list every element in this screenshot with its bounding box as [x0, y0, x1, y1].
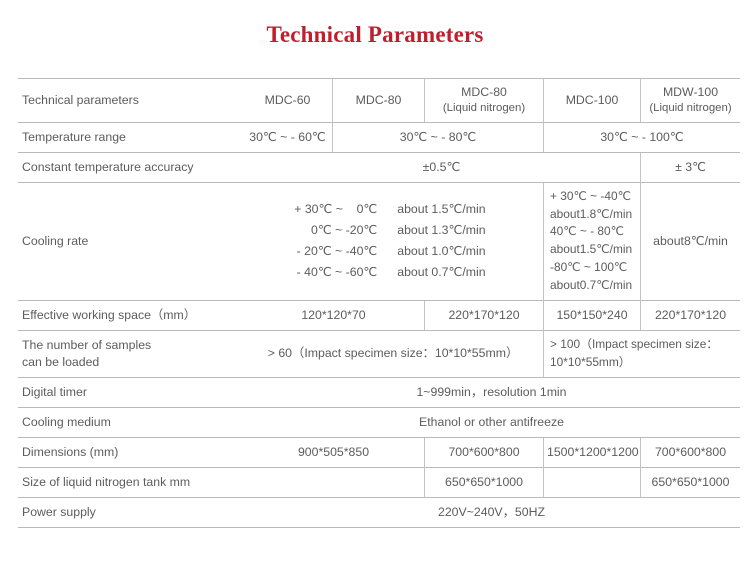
cell-cooling-rate-mdw-100: about8℃/min: [640, 183, 740, 301]
cooling-rate-range-3: - 20℃ ~ -40℃: [246, 241, 391, 262]
table-header-row: Technical parameters MDC-60 MDC-80 MDC-8…: [18, 78, 740, 123]
cell-ln-tank-mdw-100: 650*650*1000: [640, 468, 740, 498]
row-label-ln-tank-size: Size of liquid nitrogen tank mm: [18, 468, 243, 498]
cell-samples-left: > 60（Impact specimen size：10*10*55mm）: [243, 331, 543, 378]
row-label-number-of-samples: The number of samples can be loaded: [18, 331, 243, 378]
cooling-rate-mdc-100-lines: + 30℃ ~ -40℃ about1.8℃/min 40℃ ~ - 80℃ a…: [547, 188, 637, 295]
table-row-number-of-samples: The number of samples can be loaded > 60…: [18, 331, 740, 378]
cell-temperature-range-mdc-60: 30℃ ~ - 60℃: [243, 123, 332, 153]
cooling-rate-line: - 20℃ ~ -40℃ about 1.0℃/min: [246, 241, 540, 262]
row-label-temperature-range: Temperature range: [18, 123, 243, 153]
table-row-digital-timer: Digital timer 1~999min，resolution 1min: [18, 378, 740, 408]
technical-parameters-table: Technical parameters MDC-60 MDC-80 MDC-8…: [18, 78, 740, 528]
row-label-constant-temperature-accuracy: Constant temperature accuracy: [18, 153, 243, 183]
cell-cooling-medium-value: Ethanol or other antifreeze: [243, 408, 740, 438]
table-row-constant-temperature-accuracy: Constant temperature accuracy ±0.5℃ ± 3℃: [18, 153, 740, 183]
cooling-rate-range-4: - 40℃ ~ -60℃: [246, 262, 391, 283]
cell-temperature-range-mdc-80-group: 30℃ ~ - 80℃: [332, 123, 543, 153]
cooling-rate-mdc-100-line-3: 40℃ ~ - 80℃: [550, 223, 637, 241]
technical-parameters-page: Technical Parameters Technical parameter…: [0, 0, 750, 588]
header-col-mdw-100-sub: (Liquid nitrogen): [644, 101, 737, 117]
cell-digital-timer-value: 1~999min，resolution 1min: [243, 378, 740, 408]
cell-working-space-mdc-100: 150*150*240: [543, 301, 640, 331]
cell-dimensions-mdc-80-ln: 700*600*800: [424, 438, 543, 468]
cooling-rate-mdc-100-line-2: about1.8℃/min: [550, 206, 637, 224]
header-col-mdc-60-name: MDC-60: [265, 93, 311, 107]
cooling-rate-value-1: about 1.5℃/min: [391, 199, 540, 220]
table-row-temperature-range: Temperature range 30℃ ~ - 60℃ 30℃ ~ - 80…: [18, 123, 740, 153]
row-label-number-of-samples-line-1: The number of samples: [22, 337, 237, 354]
header-col-mdc-80-ln: MDC-80 (Liquid nitrogen): [424, 78, 543, 123]
cooling-rate-mdc-100-line-1: + 30℃ ~ -40℃: [550, 188, 637, 206]
header-label-technical-parameters: Technical parameters: [18, 78, 243, 123]
cell-cooling-rate-left-group: + 30℃ ~ 0℃ about 1.5℃/min 0℃ ~ -20℃ abou…: [243, 183, 543, 301]
cooling-rate-grid: + 30℃ ~ 0℃ about 1.5℃/min 0℃ ~ -20℃ abou…: [246, 199, 540, 283]
table-row-cooling-medium: Cooling medium Ethanol or other antifree…: [18, 408, 740, 438]
cell-working-space-mdc-60-80: 120*120*70: [243, 301, 424, 331]
cell-working-space-mdw-100: 220*170*120: [640, 301, 740, 331]
table-row-ln-tank-size: Size of liquid nitrogen tank mm 650*650*…: [18, 468, 740, 498]
header-col-mdc-80: MDC-80: [332, 78, 424, 123]
cell-samples-right: > 100（Impact specimen size： 10*10*55mm）: [543, 331, 740, 378]
page-title: Technical Parameters: [0, 22, 750, 48]
cell-accuracy-main: ±0.5℃: [243, 153, 640, 183]
table-row-power-supply: Power supply 220V~240V，50HZ: [18, 498, 740, 528]
cooling-rate-line: 0℃ ~ -20℃ about 1.3℃/min: [246, 220, 540, 241]
header-col-mdc-80-name: MDC-80: [356, 93, 402, 107]
cell-samples-right-line-2: 10*10*55mm）: [550, 354, 737, 372]
cell-ln-tank-mdc-60-80: [243, 468, 424, 498]
cooling-rate-range-2: 0℃ ~ -20℃: [246, 220, 391, 241]
cell-ln-tank-mdc-80-ln: 650*650*1000: [424, 468, 543, 498]
cooling-rate-mdc-100-line-6: about0.7℃/min: [550, 277, 637, 295]
row-label-number-of-samples-line-2: can be loaded: [22, 354, 237, 371]
cooling-rate-line: - 40℃ ~ -60℃ about 0.7℃/min: [246, 262, 540, 283]
header-col-mdc-100-name: MDC-100: [566, 93, 619, 107]
header-col-mdw-100: MDW-100 (Liquid nitrogen): [640, 78, 740, 123]
cell-dimensions-mdc-100: 1500*1200*1200: [543, 438, 640, 468]
cooling-rate-range-1: + 30℃ ~ 0℃: [246, 199, 391, 220]
header-col-mdc-100: MDC-100: [543, 78, 640, 123]
row-label-power-supply: Power supply: [18, 498, 243, 528]
cell-accuracy-mdw-100: ± 3℃: [640, 153, 740, 183]
header-col-mdc-80-ln-name: MDC-80: [461, 85, 507, 99]
cooling-rate-value-3: about 1.0℃/min: [391, 241, 540, 262]
cell-power-supply-value: 220V~240V，50HZ: [243, 498, 740, 528]
header-col-mdc-60: MDC-60: [243, 78, 332, 123]
cooling-rate-value-2: about 1.3℃/min: [391, 220, 540, 241]
cell-samples-right-lines: > 100（Impact specimen size： 10*10*55mm）: [547, 336, 737, 372]
cell-dimensions-mdc-60-80: 900*505*850: [243, 438, 424, 468]
table-row-dimensions: Dimensions (mm) 900*505*850 700*600*800 …: [18, 438, 740, 468]
row-label-cooling-medium: Cooling medium: [18, 408, 243, 438]
cell-ln-tank-mdc-100: [543, 468, 640, 498]
cooling-rate-line: + 30℃ ~ 0℃ about 1.5℃/min: [246, 199, 540, 220]
row-label-cooling-rate: Cooling rate: [18, 183, 243, 301]
row-label-digital-timer: Digital timer: [18, 378, 243, 408]
cell-working-space-mdc-80-ln: 220*170*120: [424, 301, 543, 331]
cell-dimensions-mdw-100: 700*600*800: [640, 438, 740, 468]
row-label-dimensions: Dimensions (mm): [18, 438, 243, 468]
cooling-rate-value-4: about 0.7℃/min: [391, 262, 540, 283]
table-row-cooling-rate: Cooling rate + 30℃ ~ 0℃ about 1.5℃/min 0…: [18, 183, 740, 301]
table-row-working-space: Effective working space（mm） 120*120*70 2…: [18, 301, 740, 331]
cell-samples-right-line-1: > 100（Impact specimen size：: [550, 336, 737, 354]
cell-cooling-rate-mdc-100: + 30℃ ~ -40℃ about1.8℃/min 40℃ ~ - 80℃ a…: [543, 183, 640, 301]
header-col-mdc-80-ln-sub: (Liquid nitrogen): [428, 101, 540, 117]
cell-temperature-range-mdc-100-group: 30℃ ~ - 100℃: [543, 123, 740, 153]
row-label-working-space: Effective working space（mm）: [18, 301, 243, 331]
cooling-rate-mdc-100-line-4: about1.5℃/min: [550, 241, 637, 259]
cooling-rate-mdc-100-line-5: -80℃ ~ 100℃: [550, 259, 637, 277]
header-col-mdw-100-name: MDW-100: [663, 85, 718, 99]
